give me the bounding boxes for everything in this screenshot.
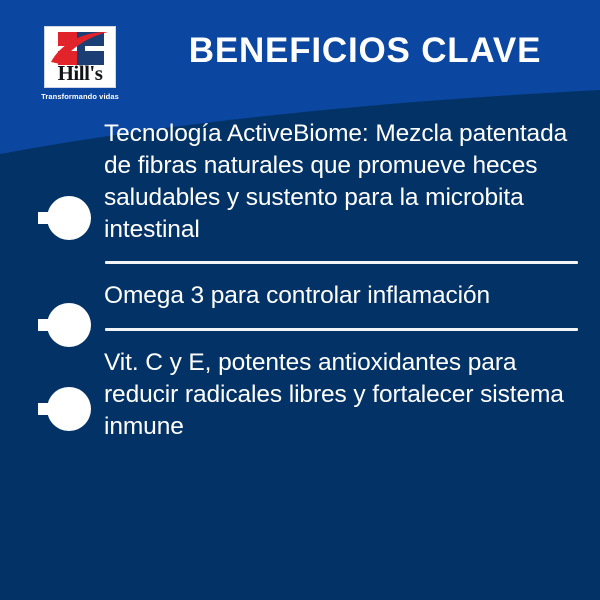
hills-logo: Hill's Transformando vidas — [34, 26, 126, 101]
arrow-right-circle-icon — [36, 302, 92, 348]
hills-logo-tagline: Transformando vidas — [34, 92, 126, 101]
benefit-divider — [105, 328, 578, 331]
hills-logo-mark: Hill's — [44, 26, 116, 88]
page-title: BENEFICIOS CLAVE — [150, 33, 580, 70]
benefit-text: Omega 3 para controlar inflamación — [104, 278, 584, 314]
hills-logo-wordmark: Hill's — [45, 63, 115, 84]
arrow-right-circle-icon — [36, 195, 92, 241]
benefit-divider — [105, 261, 578, 264]
benefits-poster: Hill's Transformando vidas BENEFICIOS CL… — [0, 0, 600, 600]
arrow-right-circle-icon — [36, 386, 92, 432]
benefit-item: Vit. C y E, potentes antioxidantes para … — [0, 345, 600, 445]
benefit-item: Tecnología ActiveBiome: Mezcla patentada… — [0, 116, 600, 247]
benefit-text: Tecnología ActiveBiome: Mezcla patentada… — [104, 116, 584, 247]
benefits-list: Tecnología ActiveBiome: Mezcla patentada… — [0, 112, 600, 445]
logo-swoosh-icon — [50, 29, 112, 65]
benefit-item: Omega 3 para controlar inflamación — [0, 278, 600, 314]
benefit-text: Vit. C y E, potentes antioxidantes para … — [104, 345, 584, 445]
